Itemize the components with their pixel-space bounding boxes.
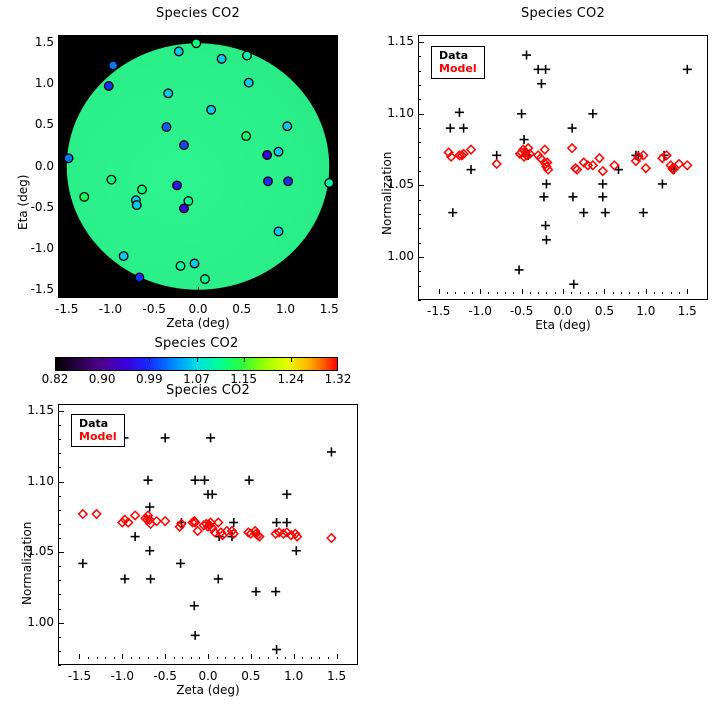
minor-tick-mark bbox=[513, 292, 514, 295]
minor-tick-mark bbox=[322, 290, 323, 293]
minor-tick-mark bbox=[191, 657, 192, 660]
tick-label: 0.0 bbox=[12, 159, 54, 173]
tick-label: -1.5 bbox=[12, 282, 54, 296]
tick-label: 1.10 bbox=[372, 106, 414, 120]
minor-tick-mark bbox=[89, 290, 90, 293]
tick-mark bbox=[58, 552, 64, 553]
tick-mark bbox=[58, 482, 64, 483]
tick-mark bbox=[58, 125, 64, 126]
minor-tick-mark bbox=[242, 657, 243, 660]
zeta-xlabel: Zeta (deg) bbox=[58, 683, 358, 697]
minor-tick-mark bbox=[530, 292, 531, 295]
minor-tick-mark bbox=[418, 99, 421, 100]
eta-panel-title: Species CO2 bbox=[418, 6, 708, 21]
minor-tick-mark bbox=[227, 290, 228, 293]
minor-tick-mark bbox=[621, 292, 622, 295]
zeta-legend-data-label: Data bbox=[79, 417, 117, 430]
minor-tick-mark bbox=[546, 292, 547, 295]
tick-label: 1.5 bbox=[12, 35, 54, 49]
minor-tick-mark bbox=[497, 292, 498, 295]
minor-tick-mark bbox=[302, 657, 303, 660]
minor-tick-mark bbox=[300, 290, 301, 293]
tick-mark bbox=[294, 654, 295, 659]
tick-mark bbox=[480, 289, 481, 294]
minor-tick-mark bbox=[58, 467, 61, 468]
minor-tick-mark bbox=[58, 651, 61, 652]
minor-tick-mark bbox=[58, 425, 61, 426]
eta-xlabel: Eta (deg) bbox=[418, 318, 708, 332]
minor-tick-mark bbox=[447, 292, 448, 295]
tick-mark bbox=[604, 289, 605, 294]
minor-tick-mark bbox=[418, 85, 421, 86]
minor-tick-mark bbox=[58, 580, 61, 581]
tick-label: 1.0 bbox=[12, 76, 54, 90]
minor-tick-mark bbox=[328, 657, 329, 660]
minor-tick-mark bbox=[638, 292, 639, 295]
minor-tick-mark bbox=[418, 286, 421, 287]
map-image-area bbox=[58, 35, 338, 298]
minor-tick-mark bbox=[131, 657, 132, 660]
minor-tick-mark bbox=[140, 290, 141, 293]
tick-mark bbox=[111, 287, 112, 292]
minor-tick-mark bbox=[629, 292, 630, 295]
minor-tick-mark bbox=[74, 290, 75, 293]
minor-tick-mark bbox=[58, 637, 61, 638]
minor-tick-mark bbox=[418, 243, 421, 244]
minor-tick-mark bbox=[220, 290, 221, 293]
minor-tick-mark bbox=[293, 290, 294, 293]
eta-ylabel: Normalization bbox=[380, 152, 394, 235]
minor-tick-mark bbox=[256, 290, 257, 293]
minor-tick-mark bbox=[418, 142, 421, 143]
zeta-legend: Data Model bbox=[71, 414, 125, 447]
minor-tick-mark bbox=[249, 290, 250, 293]
minor-tick-mark bbox=[174, 657, 175, 660]
minor-tick-mark bbox=[418, 228, 421, 229]
minor-tick-mark bbox=[613, 292, 614, 295]
tick-mark bbox=[439, 289, 440, 294]
tick-mark bbox=[58, 290, 64, 291]
colorbar-tick-mark bbox=[244, 357, 245, 362]
eta-legend-model-label: Model bbox=[439, 62, 477, 75]
minor-tick-mark bbox=[555, 292, 556, 295]
tick-mark bbox=[418, 42, 424, 43]
minor-tick-mark bbox=[571, 292, 572, 295]
tick-mark bbox=[418, 114, 424, 115]
minor-tick-mark bbox=[58, 538, 61, 539]
tick-label: -0.5 bbox=[12, 200, 54, 214]
minor-tick-mark bbox=[88, 657, 89, 660]
minor-tick-mark bbox=[132, 290, 133, 293]
minor-tick-mark bbox=[277, 657, 278, 660]
minor-tick-mark bbox=[488, 292, 489, 295]
tick-mark bbox=[251, 654, 252, 659]
minor-tick-mark bbox=[182, 657, 183, 660]
minor-tick-mark bbox=[157, 657, 158, 660]
colorbar-title: Species CO2 bbox=[55, 336, 338, 351]
tick-mark bbox=[337, 654, 338, 659]
minor-tick-mark bbox=[418, 157, 421, 158]
tick-label: 1.00 bbox=[12, 615, 54, 629]
minor-tick-mark bbox=[418, 300, 421, 301]
minor-tick-mark bbox=[58, 594, 61, 595]
minor-tick-mark bbox=[139, 657, 140, 660]
minor-tick-mark bbox=[58, 496, 61, 497]
zeta-panel-title: Species CO2 bbox=[58, 383, 358, 398]
tick-label: 1.05 bbox=[372, 177, 414, 191]
minor-tick-mark bbox=[418, 271, 421, 272]
zeta-ylabel: Normalization bbox=[20, 522, 34, 605]
tick-mark bbox=[522, 289, 523, 294]
tick-mark bbox=[58, 208, 64, 209]
minor-tick-mark bbox=[199, 657, 200, 660]
minor-tick-mark bbox=[58, 439, 61, 440]
tick-mark bbox=[58, 623, 64, 624]
tick-label: -1.0 bbox=[12, 241, 54, 255]
map-panel-title: Species CO2 bbox=[58, 6, 338, 21]
minor-tick-mark bbox=[213, 290, 214, 293]
minor-tick-mark bbox=[234, 657, 235, 660]
tick-mark bbox=[242, 287, 243, 292]
minor-tick-mark bbox=[191, 290, 192, 293]
minor-tick-mark bbox=[217, 657, 218, 660]
minor-tick-mark bbox=[268, 657, 269, 660]
minor-tick-mark bbox=[58, 566, 61, 567]
minor-tick-mark bbox=[147, 290, 148, 293]
minor-tick-mark bbox=[455, 292, 456, 295]
minor-tick-mark bbox=[118, 290, 119, 293]
minor-tick-mark bbox=[176, 290, 177, 293]
minor-tick-mark bbox=[96, 290, 97, 293]
minor-tick-mark bbox=[588, 292, 589, 295]
minor-tick-mark bbox=[103, 290, 104, 293]
minor-tick-mark bbox=[81, 290, 82, 293]
minor-tick-mark bbox=[580, 292, 581, 295]
tick-label: 1.00 bbox=[372, 249, 414, 263]
tick-mark bbox=[122, 654, 123, 659]
minor-tick-mark bbox=[311, 657, 312, 660]
tick-label: 1.5 bbox=[301, 302, 357, 316]
minor-tick-mark bbox=[114, 657, 115, 660]
tick-mark bbox=[198, 287, 199, 292]
minor-tick-mark bbox=[418, 56, 421, 57]
tick-mark bbox=[58, 411, 64, 412]
minor-tick-mark bbox=[58, 453, 61, 454]
tick-mark bbox=[58, 84, 64, 85]
minor-tick-mark bbox=[225, 657, 226, 660]
minor-tick-mark bbox=[418, 128, 421, 129]
tick-mark bbox=[329, 287, 330, 292]
minor-tick-mark bbox=[671, 292, 672, 295]
zeta-legend-model-label: Model bbox=[79, 430, 117, 443]
minor-tick-mark bbox=[319, 657, 320, 660]
minor-tick-mark bbox=[679, 292, 680, 295]
tick-mark bbox=[58, 249, 64, 250]
minor-tick-mark bbox=[464, 292, 465, 295]
minor-tick-mark bbox=[58, 524, 61, 525]
tick-label: 1.5 bbox=[309, 669, 365, 683]
minor-tick-mark bbox=[662, 292, 663, 295]
minor-tick-mark bbox=[58, 609, 61, 610]
colorbar-tick-mark bbox=[149, 357, 150, 362]
map-xlabel: Zeta (deg) bbox=[58, 316, 338, 330]
tick-mark bbox=[58, 43, 64, 44]
minor-tick-mark bbox=[307, 290, 308, 293]
tick-label: 1.15 bbox=[12, 403, 54, 417]
minor-tick-mark bbox=[418, 214, 421, 215]
eta-legend-data-label: Data bbox=[439, 49, 477, 62]
tick-mark bbox=[687, 289, 688, 294]
tick-label: 1.15 bbox=[372, 34, 414, 48]
minor-tick-mark bbox=[234, 290, 235, 293]
minor-tick-mark bbox=[58, 510, 61, 511]
minor-tick-mark bbox=[58, 665, 61, 666]
minor-tick-mark bbox=[205, 290, 206, 293]
minor-tick-mark bbox=[271, 290, 272, 293]
tick-mark bbox=[154, 287, 155, 292]
eta-legend: Data Model bbox=[431, 46, 485, 79]
minor-tick-mark bbox=[148, 657, 149, 660]
minor-tick-mark bbox=[105, 657, 106, 660]
tick-mark bbox=[418, 257, 424, 258]
colorbar-tick-mark bbox=[291, 357, 292, 362]
tick-label: 1.10 bbox=[12, 474, 54, 488]
tick-mark bbox=[208, 654, 209, 659]
tick-mark bbox=[79, 654, 80, 659]
minor-tick-mark bbox=[472, 292, 473, 295]
tick-label: 1.5 bbox=[659, 304, 715, 318]
minor-tick-mark bbox=[596, 292, 597, 295]
minor-tick-mark bbox=[285, 657, 286, 660]
tick-label: 1.05 bbox=[12, 544, 54, 558]
minor-tick-mark bbox=[538, 292, 539, 295]
tick-mark bbox=[286, 287, 287, 292]
tick-mark bbox=[67, 287, 68, 292]
tick-mark bbox=[58, 167, 64, 168]
minor-tick-mark bbox=[315, 290, 316, 293]
minor-tick-mark bbox=[505, 292, 506, 295]
minor-tick-mark bbox=[169, 290, 170, 293]
minor-tick-mark bbox=[125, 290, 126, 293]
minor-tick-mark bbox=[183, 290, 184, 293]
tick-label: 0.5 bbox=[12, 117, 54, 131]
minor-tick-mark bbox=[418, 71, 421, 72]
tick-mark bbox=[418, 185, 424, 186]
colorbar-tick-mark bbox=[197, 357, 198, 362]
tick-mark bbox=[563, 289, 564, 294]
tick-mark bbox=[165, 654, 166, 659]
tick-mark bbox=[646, 289, 647, 294]
minor-tick-mark bbox=[418, 200, 421, 201]
colorbar-tick-mark bbox=[102, 357, 103, 362]
minor-tick-mark bbox=[418, 171, 421, 172]
minor-tick-mark bbox=[278, 290, 279, 293]
minor-tick-mark bbox=[264, 290, 265, 293]
minor-tick-mark bbox=[97, 657, 98, 660]
minor-tick-mark bbox=[259, 657, 260, 660]
minor-tick-mark bbox=[162, 290, 163, 293]
minor-tick-mark bbox=[654, 292, 655, 295]
